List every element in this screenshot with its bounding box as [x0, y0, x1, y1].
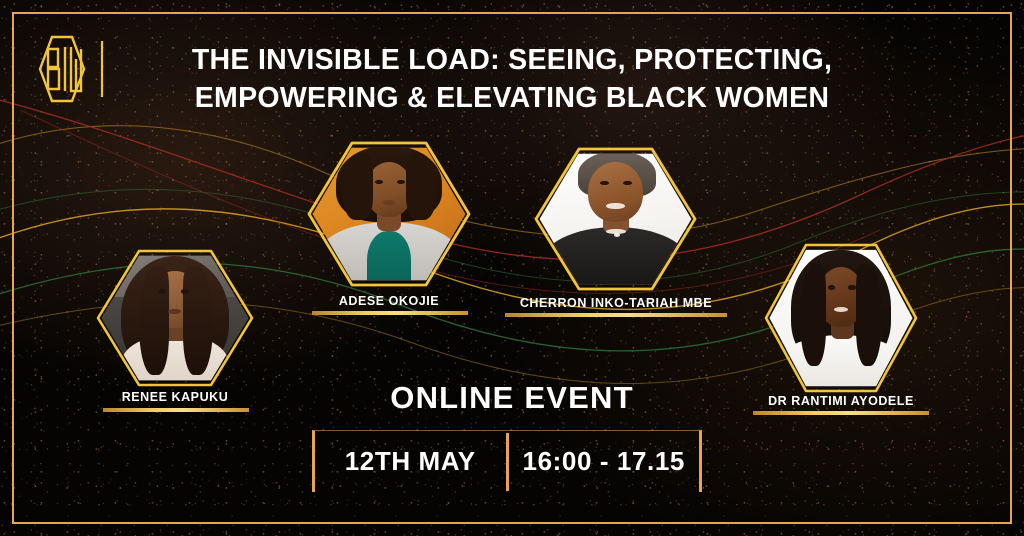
- title-line-2: EMPOWERING & ELEVATING BLACK WOMEN: [132, 80, 892, 118]
- speaker-portrait-adese-okojie: [306, 140, 472, 288]
- speaker-name-label: ADESE OKOJIE: [306, 294, 472, 308]
- hexagon-frame: [763, 242, 919, 394]
- event-poster: THE INVISIBLE LOAD: SEEING, PROTECTING, …: [0, 0, 1024, 536]
- speaker-portrait-cherron-inko-tariah: [533, 146, 698, 292]
- hexagon-frame: [95, 248, 255, 388]
- title-line-1: THE INVISIBLE LOAD: SEEING, PROTECTING,: [132, 42, 892, 80]
- speaker-name-underline: [312, 311, 468, 315]
- event-format-label: ONLINE EVENT: [0, 380, 1024, 416]
- biw-logo: [22, 33, 110, 105]
- speaker-name-label: CHERRON INKO-TARIAH MBE: [498, 296, 734, 310]
- biw-hexagon-logo-icon: [22, 33, 110, 105]
- speaker-portrait-dr-rantimi-ayodele: [763, 242, 919, 394]
- speaker-portrait-renee-kapuku: [95, 248, 255, 388]
- hexagon-frame: [306, 140, 472, 288]
- speaker-name-underline: [505, 313, 727, 317]
- event-date: 12TH MAY: [315, 446, 506, 477]
- page-title: THE INVISIBLE LOAD: SEEING, PROTECTING, …: [132, 42, 892, 118]
- event-details-box: 12TH MAY 16:00 - 17.15: [312, 430, 702, 492]
- hexagon-frame: [533, 146, 698, 292]
- event-time: 16:00 - 17.15: [509, 446, 700, 477]
